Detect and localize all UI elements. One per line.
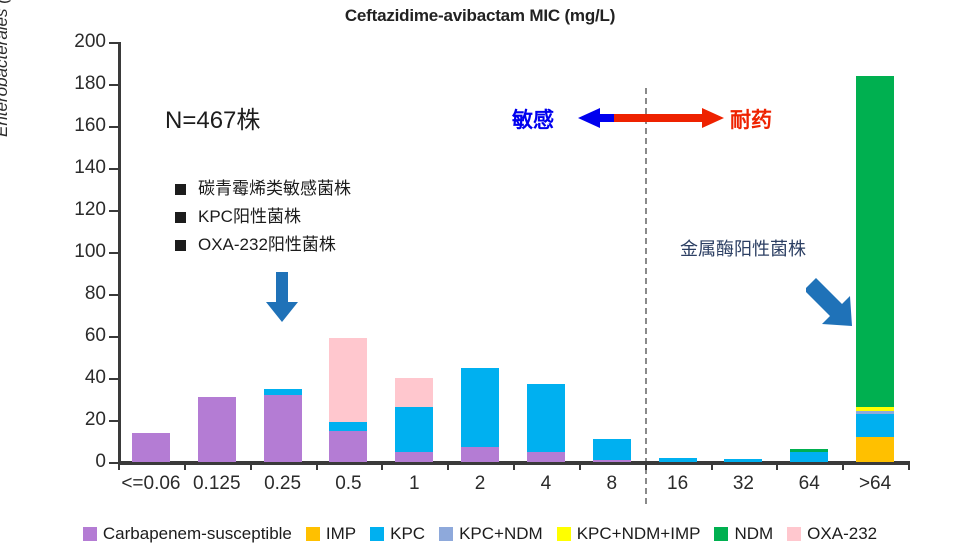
bar-segment[interactable]	[593, 439, 631, 460]
legend-item[interactable]: OXA-232	[787, 524, 877, 544]
x-tick-mark	[513, 461, 515, 470]
legend-item[interactable]: KPC+NDM	[439, 524, 543, 544]
x-tick-mark	[711, 461, 713, 470]
bar-segment[interactable]	[461, 368, 499, 448]
marker-list-label: OXA-232阳性菌株	[198, 231, 336, 259]
x-tick-label: 8	[606, 473, 617, 495]
bar-segment[interactable]	[856, 437, 894, 462]
marker-square-icon	[175, 212, 186, 223]
bar-segment[interactable]	[790, 452, 828, 463]
legend-item[interactable]: Carbapenem-susceptible	[83, 524, 292, 544]
legend-swatch-icon	[83, 527, 97, 541]
bar-segment[interactable]	[527, 384, 565, 451]
legend: Carbapenem-susceptibleIMPKPCKPC+NDMKPC+N…	[0, 524, 960, 544]
y-tick-mark	[109, 42, 118, 44]
x-tick-mark	[579, 461, 581, 470]
y-tick-mark	[109, 126, 118, 128]
y-tick-label: 180	[74, 73, 106, 95]
y-tick-mark	[109, 168, 118, 170]
x-tick-label: 32	[733, 473, 754, 495]
legend-swatch-icon	[714, 527, 728, 541]
y-tick-mark	[109, 84, 118, 86]
legend-label: IMP	[326, 524, 356, 544]
legend-label: Carbapenem-susceptible	[103, 524, 292, 544]
diagonal-arrow-icon	[802, 278, 860, 330]
y-tick-mark	[109, 420, 118, 422]
x-tick-label: 2	[475, 473, 486, 495]
y-tick-mark	[109, 210, 118, 212]
marker-list-item: 碳青霉烯类敏感菌株	[175, 175, 351, 203]
y-tick-label: 100	[74, 241, 106, 263]
x-tick-mark	[908, 461, 910, 470]
bar-segment[interactable]	[395, 407, 433, 451]
y-tick-label: 20	[85, 409, 106, 431]
x-tick-label: 64	[799, 473, 820, 495]
x-tick-mark	[776, 461, 778, 470]
metallo-enzyme-label: 金属酶阳性菌株	[680, 235, 806, 261]
legend-label: KPC	[390, 524, 425, 544]
bar-segment[interactable]	[856, 414, 894, 437]
legend-label: KPC+NDM	[459, 524, 543, 544]
breakpoint-divider	[645, 88, 647, 504]
x-tick-label: >64	[859, 473, 891, 495]
bar-segment[interactable]	[198, 397, 236, 462]
marker-legend-annotation: 碳青霉烯类敏感菌株KPC阳性菌株OXA-232阳性菌株	[175, 175, 351, 259]
x-tick-label: 16	[667, 473, 688, 495]
y-tick-mark	[109, 336, 118, 338]
bar-column[interactable]	[856, 42, 894, 462]
legend-item[interactable]: IMP	[306, 524, 356, 544]
bar-segment[interactable]	[461, 447, 499, 462]
marker-list-label: 碳青霉烯类敏感菌株	[198, 175, 351, 203]
x-tick-mark	[184, 461, 186, 470]
bar-segment[interactable]	[724, 459, 762, 462]
bar-segment[interactable]	[856, 76, 894, 408]
legend-swatch-icon	[557, 527, 571, 541]
x-tick-label: 1	[409, 473, 420, 495]
marker-list-item: KPC阳性菌株	[175, 203, 351, 231]
bar-segment[interactable]	[329, 431, 367, 463]
bar-column[interactable]	[461, 42, 499, 462]
y-tick-mark	[109, 462, 118, 464]
bar-segment[interactable]	[395, 452, 433, 463]
bar-segment[interactable]	[329, 338, 367, 422]
legend-item[interactable]: NDM	[714, 524, 773, 544]
marker-list-label: KPC阳性菌株	[198, 203, 301, 231]
x-tick-mark	[118, 461, 120, 470]
y-tick-label: 120	[74, 199, 106, 221]
legend-swatch-icon	[306, 527, 320, 541]
y-tick-label: 200	[74, 31, 106, 53]
bar-column[interactable]	[593, 42, 631, 462]
legend-swatch-icon	[370, 527, 384, 541]
y-tick-label: 80	[85, 283, 106, 305]
y-tick-label: 40	[85, 367, 106, 389]
susceptible-label: 敏感	[512, 104, 554, 134]
x-tick-mark	[250, 461, 252, 470]
down-arrow-icon	[262, 272, 302, 328]
x-tick-mark	[842, 461, 844, 470]
x-tick-mark	[381, 461, 383, 470]
y-tick-label: 140	[74, 157, 106, 179]
total-count-annotation: N=467株	[165, 100, 260, 135]
x-tick-label: <=0.06	[121, 473, 180, 495]
bar-segment[interactable]	[132, 433, 170, 462]
y-axis-title: Enterobacterales (n)	[0, 0, 12, 180]
marker-square-icon	[175, 240, 186, 251]
bar-segment[interactable]	[593, 460, 631, 462]
x-tick-label: 0.125	[193, 473, 241, 495]
bar-segment[interactable]	[329, 422, 367, 430]
y-tick-label: 160	[74, 115, 106, 137]
resistant-label: 耐药	[730, 104, 772, 134]
right-arrow-icon	[614, 106, 724, 130]
legend-item[interactable]: KPC+NDM+IMP	[557, 524, 701, 544]
legend-label: OXA-232	[807, 524, 877, 544]
bar-segment[interactable]	[395, 378, 433, 407]
x-tick-label: 4	[541, 473, 552, 495]
y-tick-label: 0	[95, 451, 106, 473]
x-tick-mark	[316, 461, 318, 470]
bar-segment[interactable]	[264, 395, 302, 462]
x-tick-mark	[447, 461, 449, 470]
marker-list-item: OXA-232阳性菌株	[175, 231, 351, 259]
x-tick-label: 0.25	[264, 473, 301, 495]
x-tick-label: 0.5	[335, 473, 361, 495]
bar-segment[interactable]	[659, 458, 697, 462]
legend-label: KPC+NDM+IMP	[577, 524, 701, 544]
bar-segment[interactable]	[527, 452, 565, 463]
y-tick-label: 60	[85, 325, 106, 347]
legend-swatch-icon	[439, 527, 453, 541]
y-tick-mark	[109, 294, 118, 296]
legend-item[interactable]: KPC	[370, 524, 425, 544]
legend-label: NDM	[734, 524, 773, 544]
y-tick-mark	[109, 252, 118, 254]
bar-column[interactable]	[395, 42, 433, 462]
legend-swatch-icon	[787, 527, 801, 541]
x-tick-mark	[645, 461, 647, 470]
y-tick-mark	[109, 378, 118, 380]
chart-title: Ceftazidime-avibactam MIC (mg/L)	[0, 6, 960, 26]
marker-square-icon	[175, 184, 186, 195]
